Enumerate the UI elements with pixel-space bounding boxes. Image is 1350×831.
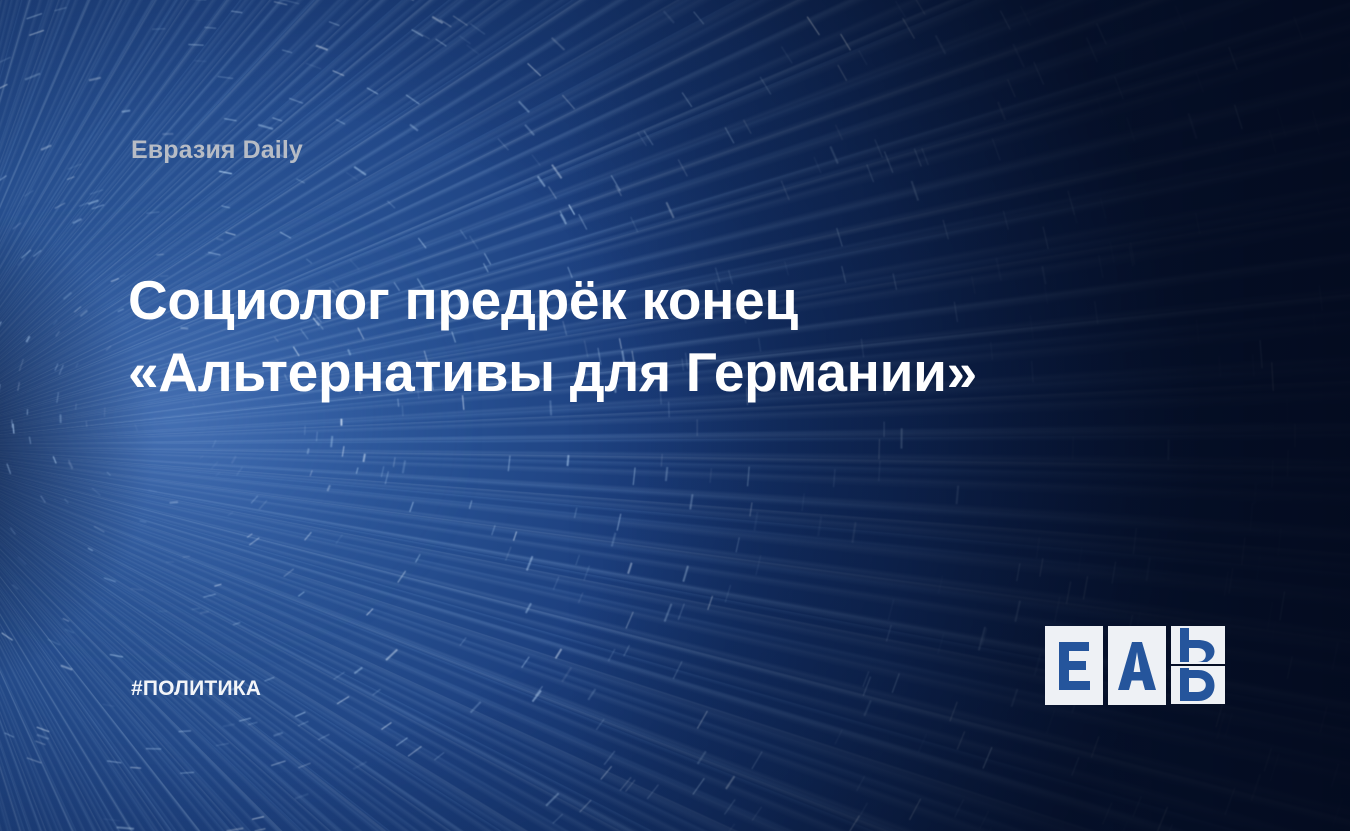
logo-tile-e [1045,626,1103,705]
eadaily-logo[interactable] [1045,626,1225,705]
logo-tile-a [1108,626,1166,705]
logo-letter-e-icon [1057,642,1091,690]
logo-letter-a-icon [1118,642,1156,690]
logo-tile-d-bottom [1171,666,1225,704]
logo-tile-stack-d [1171,626,1225,704]
logo-tile-d-top [1171,626,1225,664]
headline-line-1: Социолог предрёк конец [128,264,1028,336]
headline: Социолог предрёк конец «Альтернативы для… [128,264,1028,408]
brand-name: Евразия Daily [131,136,303,165]
headline-line-2: «Альтернативы для Германии» [128,336,1028,408]
card-content: Евразия Daily Социолог предрёк конец «Ал… [0,0,1350,831]
logo-letter-d-top-icon [1178,628,1218,662]
category-hashtag: #ПОЛИТИКА [131,677,261,701]
social-share-card: Евразия Daily Социолог предрёк конец «Ал… [0,0,1350,831]
logo-letter-d-bottom-icon [1178,668,1218,702]
